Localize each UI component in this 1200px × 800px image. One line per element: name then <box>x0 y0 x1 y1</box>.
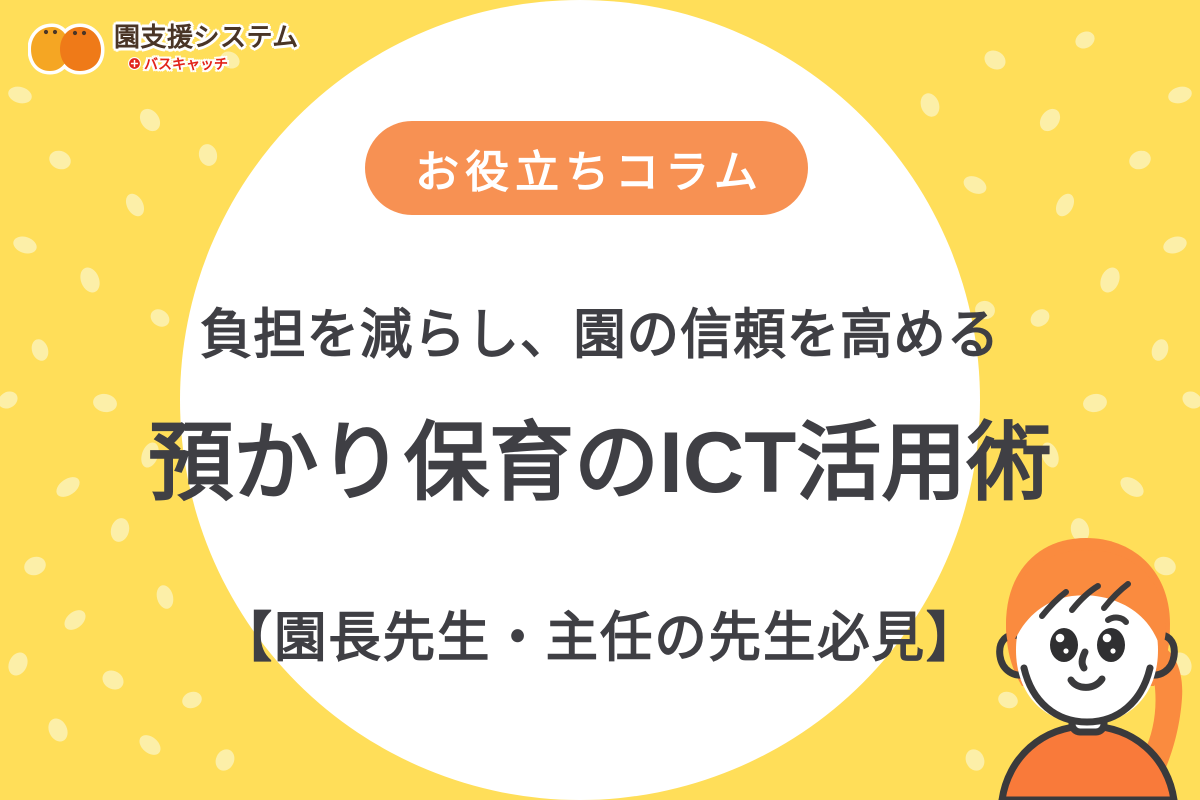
smiling-girl-illustration <box>968 520 1200 800</box>
logo-title: 園支援システム <box>114 24 299 51</box>
logo-subtitle: バスキャッチ <box>144 54 228 74</box>
two-chicks-icon <box>28 18 106 80</box>
main-headline: 預かり保育のICT活用術 <box>6 392 1194 517</box>
sub-headline: 負担を減らし、園の信頼を高める <box>18 290 1182 369</box>
plus-circle-icon <box>128 57 141 70</box>
brand-logo[interactable]: 園支援システム バスキャッチ <box>28 18 299 80</box>
promo-banner: 園支援システム バスキャッチ お役立ちコラム 負担を減らし、園の信頼を高める 預… <box>0 0 1200 800</box>
logo-subtitle-row: バスキャッチ <box>128 54 228 74</box>
column-badge: お役立ちコラム <box>365 121 808 215</box>
column-badge-label: お役立ちコラム <box>409 136 764 200</box>
